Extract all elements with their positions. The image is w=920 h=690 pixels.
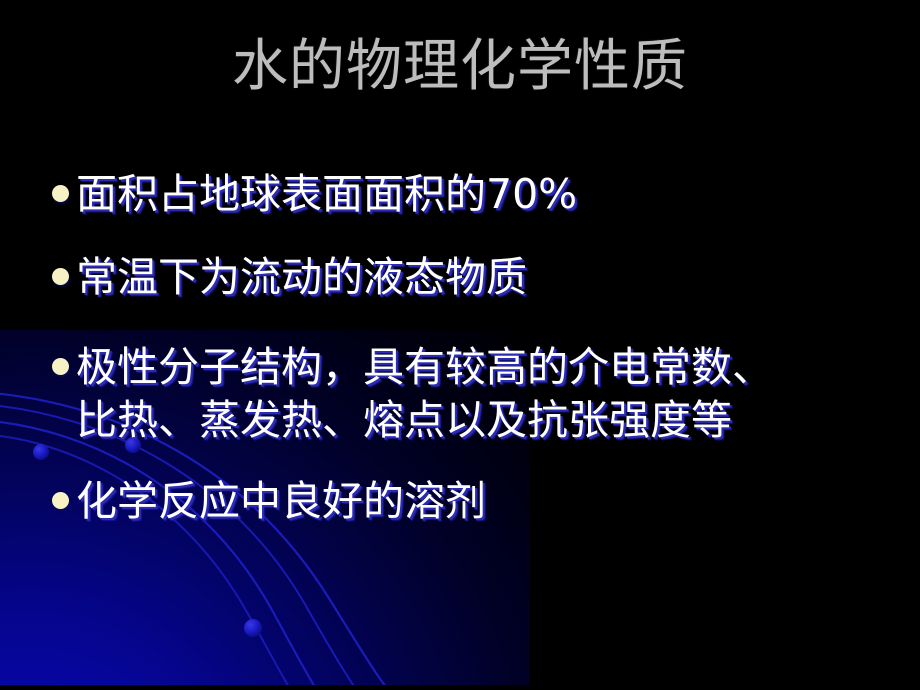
bullet-dot-icon (52, 268, 69, 285)
slide-title: 水的物理化学性质 (0, 36, 920, 99)
bullet-line: 面积占地球表面面积的70% (76, 168, 900, 221)
presentation-slide: 水的物理化学性质 面积占地球表面面积的70% 常温下为流动的液态物质 极性分子结… (0, 0, 920, 690)
bullet-dot-icon (52, 492, 69, 509)
bullet-dot-icon (52, 185, 69, 202)
bullet-item-text: 面积占地球表面面积的70% (76, 168, 900, 221)
bullet-item: 极性分子结构，具有较高的介电常数、 比热、蒸发热、熔点以及抗张强度等 (52, 341, 900, 448)
bullet-item-text: 极性分子结构，具有较高的介电常数、 比热、蒸发热、熔点以及抗张强度等 (76, 341, 900, 448)
slide-content: 水的物理化学性质 面积占地球表面面积的70% 常温下为流动的液态物质 极性分子结… (0, 0, 920, 690)
bullet-item: 化学反应中良好的溶剂 (52, 475, 900, 528)
bullet-dot-icon (52, 358, 69, 375)
bullet-line: 极性分子结构，具有较高的介电常数、 (76, 341, 900, 394)
bullet-item: 面积占地球表面面积的70% (52, 168, 900, 221)
bullet-item-text: 化学反应中良好的溶剂 (76, 475, 900, 528)
bullet-line: 常温下为流动的液态物质 (76, 251, 900, 304)
bullet-list: 面积占地球表面面积的70% 常温下为流动的液态物质 极性分子结构，具有较高的介电… (52, 168, 900, 528)
bullet-line: 比热、蒸发热、熔点以及抗张强度等 (76, 394, 900, 447)
slide-bottom-edge (0, 685, 920, 690)
bullet-item: 常温下为流动的液态物质 (52, 251, 900, 304)
bullet-line: 化学反应中良好的溶剂 (76, 475, 900, 528)
bullet-item-text: 常温下为流动的液态物质 (76, 251, 900, 304)
